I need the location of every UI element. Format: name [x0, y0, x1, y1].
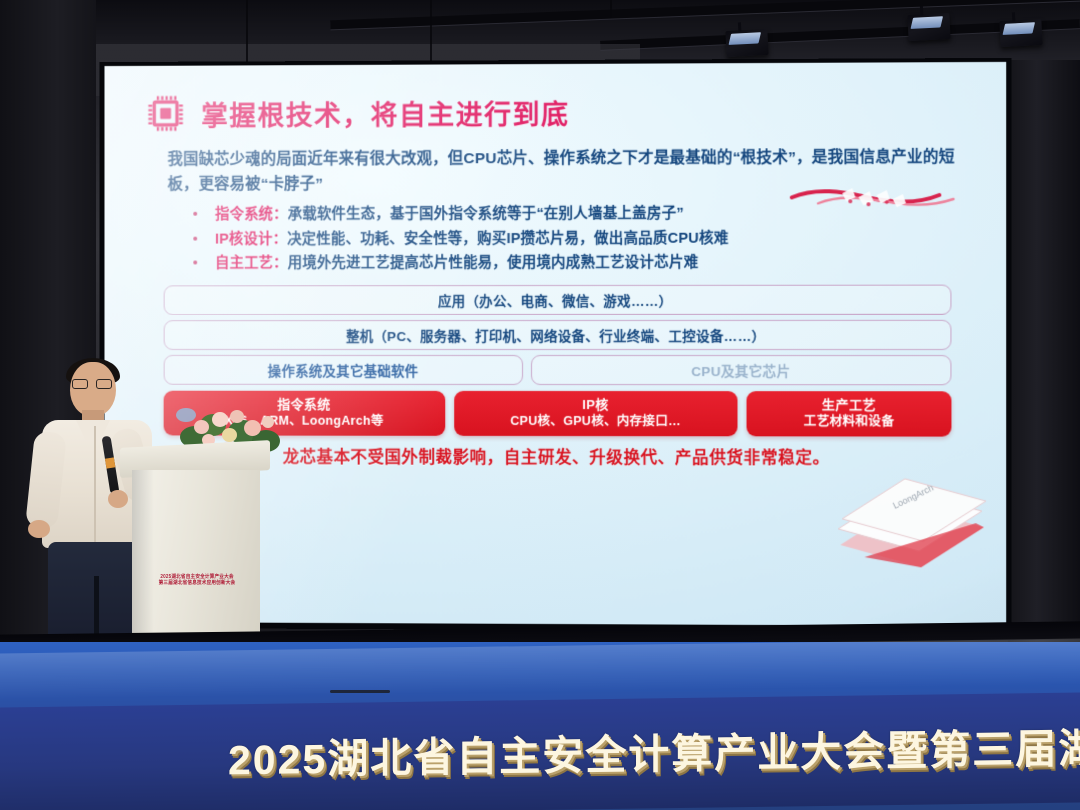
bullet-dot-icon — [193, 260, 197, 264]
bullet-separator: ： — [273, 255, 288, 271]
stage-light-icon — [907, 13, 950, 41]
bullet-key: 指令系统 — [215, 207, 273, 223]
slide-lead-paragraph: 我国缺芯少魂的局面近年来有很大改观，但CPU芯片、操作系统之下才是最基础的“根技… — [168, 145, 966, 198]
podium-sign: 2025湖北省自主安全计算产业大会 第三届湖北省信息技术应用创新大会 — [154, 574, 240, 586]
bullet-dot-icon — [193, 212, 197, 216]
stack-layer-os: 操作系统及其它基础软件 — [164, 355, 524, 385]
bullet-key: IP核设计 — [215, 231, 273, 247]
bullet-separator: ： — [273, 207, 288, 223]
bullet-key: 自主工艺 — [215, 255, 273, 271]
bullet-text: 用境外先进工艺提高芯片性能易，使用境内成熟工艺设计芯片难 — [288, 255, 699, 272]
bullet-text: 承载软件生态，基于国外指令系统等于“在别人墙基上盖房子” — [288, 206, 684, 223]
slide-bullet-list: 指令系统：承载软件生态，基于国外指令系统等于“在别人墙基上盖房子” IP核设计：… — [189, 201, 965, 275]
bullet-text: 决定性能、功耗、安全性等，购买IP攒芯片易，做出高品质CPU核难 — [287, 230, 728, 247]
stack-row-software-chip: 操作系统及其它基础软件 CPU及其它芯片 — [164, 355, 952, 385]
bullet-separator: ： — [273, 231, 288, 247]
root-tech-box-process: 生产工艺 工艺材料和设备 — [747, 391, 952, 437]
bullet-dot-icon — [193, 236, 197, 240]
podium-sign-line-2: 第三届湖北省信息技术应用创新大会 — [154, 580, 240, 587]
conference-photo-scene: LoongArch — [0, 0, 1080, 810]
stage-light-icon — [725, 29, 768, 57]
stage-light-icon — [999, 19, 1042, 47]
cpu-chip-icon — [146, 94, 185, 134]
stack-layer-application: 应用（办公、电商、微信、游戏……） — [164, 285, 952, 316]
slide-title: 掌握根技术，将自主进行到底 — [201, 92, 569, 132]
list-item: 指令系统：承载软件生态，基于国外指令系统等于“在别人墙基上盖房子” — [189, 201, 965, 227]
root-tech-title: 生产工艺 — [751, 397, 947, 414]
speaker-head — [70, 362, 116, 416]
floor-cable — [330, 690, 390, 693]
stack-layer-cpu: CPU及其它芯片 — [531, 355, 951, 385]
hall-wall-right — [1008, 60, 1080, 700]
speaker-left-hand — [28, 520, 50, 538]
glasses-icon — [72, 379, 114, 389]
decorative-carpet — [600, 766, 1080, 810]
root-tech-subtitle: CPU核、GPU核、内存接口… — [458, 414, 734, 430]
speaker-shirt-placket — [94, 426, 96, 546]
root-tech-subtitle: 工艺材料和设备 — [751, 414, 947, 430]
root-tech-box-ipcore: IP核 CPU核、GPU核、内存接口… — [454, 391, 738, 436]
list-item: IP核设计：决定性能、功耗、安全性等，购买IP攒芯片易，做出高品质CPU核难 — [189, 226, 965, 252]
slide-title-row: 掌握根技术，将自主进行到底 — [146, 90, 966, 133]
stack-layer-machine: 整机（PC、服务器、打印机、网络设备、行业终端、工控设备……） — [164, 320, 952, 350]
list-item: 自主工艺：用境外先进工艺提高芯片性能易，使用境内成熟工艺设计芯片难 — [189, 250, 965, 275]
root-tech-title: IP核 — [458, 397, 734, 414]
